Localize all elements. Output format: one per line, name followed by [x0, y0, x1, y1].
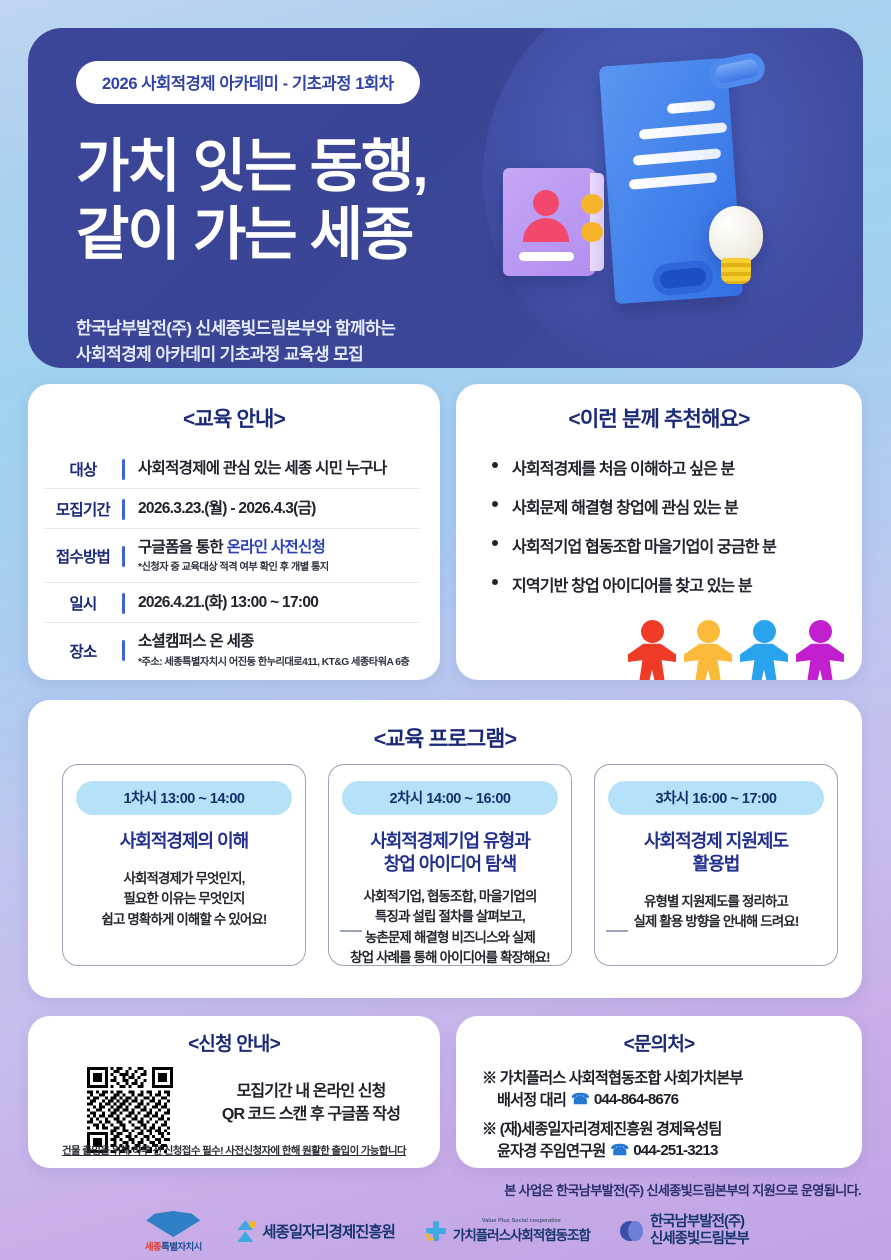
- dot-icon: [249, 1221, 256, 1228]
- logo-kospo: 한국남부발전(주) 신세종빛드림본부: [620, 1214, 749, 1248]
- info-footnote: *신청자 중 교육대상 적격 여부 확인 후 개별 통지: [138, 561, 329, 574]
- list-item: 사회적기업 협동조합 마을기업이 궁금한 분: [490, 533, 862, 557]
- person-figure-red: [628, 620, 676, 680]
- education-info-card: <교육 안내> 대상 사회적경제에 관심 있는 세종 시민 누구나 모집기간 2…: [28, 384, 440, 680]
- person-head-icon: [753, 620, 776, 643]
- session-card-3: 3차시 16:00 ~ 17:00 사회적경제 지원제도 활용법 유형별 지원제…: [594, 764, 838, 966]
- header-illustration: [481, 56, 841, 346]
- arc-icon: [426, 1231, 436, 1241]
- session-description: 사회적기업, 협동조합, 마을기업의 특징과 설립 절차를 살펴보고, 농촌문제…: [342, 887, 558, 969]
- info-label: 장소: [44, 640, 122, 662]
- session-title: 사회적경제의 이해: [76, 830, 292, 853]
- book-line-icon: [519, 252, 574, 261]
- gachi-plus-label: 가치플러스사회적협동조합: [453, 1224, 590, 1244]
- info-value: 사회적경제에 관심 있는 세종 시민 누구나: [138, 459, 387, 479]
- info-label: 모집기간: [44, 498, 122, 520]
- phone-icon: ☎: [571, 1090, 589, 1108]
- person-figure-yellow: [684, 620, 732, 680]
- gachi-plus-text: Value Plus Social cooperative 가치플러스사회적협동…: [453, 1218, 590, 1244]
- divider-bar: [122, 640, 125, 661]
- sejong-city-label: 세종특별자치시: [142, 1239, 204, 1253]
- contact-person: 윤자경 주임연구원 ☎ 044-251-3213: [497, 1139, 862, 1161]
- sejong-city-mark-icon: 세종특별자치시: [142, 1209, 204, 1253]
- info-value-highlight: 온라인 사전신청: [227, 539, 326, 556]
- session-time-badge: 3차시 16:00 ~ 17:00: [608, 781, 824, 815]
- phone-icon: ☎: [610, 1141, 628, 1159]
- info-row-method: 접수방법 구글폼을 통한 온라인 사전신청 *신청자 중 교육대상 적격 여부 …: [44, 529, 420, 583]
- logo-gachi-plus: Value Plus Social cooperative 가치플러스사회적협동…: [425, 1218, 590, 1244]
- session-connector-line: [606, 930, 628, 932]
- info-row-venue: 장소 소셜캠퍼스 온 세종 *주소: 세종특별자치시 어진동 한누리대로411,…: [44, 623, 420, 676]
- bookmark-tab-icon: [581, 194, 603, 214]
- list-item: 사회적경제를 처음 이해하고 싶은 분: [490, 455, 862, 479]
- sejong-job-agency-mark-icon: [234, 1220, 256, 1242]
- book-icon: [503, 168, 597, 276]
- apply-footnote: 건물 출입을 위해 하루 전 신청접수 필수! 사전신청자에 한해 원활한 출입…: [28, 1142, 440, 1157]
- recommendation-card: <이런 분께 추천해요> 사회적경제를 처음 이해하고 싶은 분 사회문제 해결…: [456, 384, 862, 680]
- person-body-icon: [796, 638, 844, 680]
- session-title: 사회적경제 지원제도 활용법: [608, 830, 824, 876]
- info-label: 대상: [44, 458, 122, 480]
- sejong-city-name: 세종: [145, 1242, 161, 1253]
- person-head-icon: [809, 620, 832, 643]
- gachi-plus-mark-icon: [425, 1220, 447, 1242]
- header-banner: 2026 사회적경제 아카데미 - 기초과정 1회차 가치 잇는 동행, 같이 …: [28, 28, 863, 368]
- info-label: 접수방법: [44, 545, 122, 567]
- info-value: 소셜캠퍼스 온 세종 *주소: 세종특별자치시 어진동 한누리대로411, KT…: [138, 632, 409, 668]
- info-table: 대상 사회적경제에 관심 있는 세종 시민 누구나 모집기간 2026.3.23…: [44, 449, 420, 677]
- apply-card-title: <신청 안내>: [28, 1029, 440, 1056]
- logo-sejong-job-agency: 세종일자리경제진흥원: [234, 1220, 395, 1242]
- session-time-badge: 1차시 13:00 ~ 14:00: [76, 781, 292, 815]
- venue-name: 소셜캠퍼스 온 세종: [138, 633, 254, 650]
- bookmark-tab-icon: [581, 222, 603, 242]
- contact-org: ※ 가치플러스 사회적협동조합 사회가치본부: [482, 1066, 862, 1088]
- logo-sejong-city: 세종특별자치시: [142, 1209, 204, 1253]
- kospo-text: 한국남부발전(주) 신세종빛드림본부: [650, 1214, 749, 1248]
- contact-card: <문의처> ※ 가치플러스 사회적협동조합 사회가치본부 배서정 대리 ☎ 04…: [456, 1016, 862, 1168]
- venue-address: *주소: 세종특별자치시 어진동 한누리대로411, KT&G 세종타워A 6층: [138, 656, 409, 669]
- contact-list: ※ 가치플러스 사회적협동조합 사회가치본부 배서정 대리 ☎ 044-864-…: [482, 1066, 862, 1161]
- kospo-mark-icon: [620, 1220, 644, 1242]
- info-value: 2026.4.21.(화) 13:00 ~ 17:00: [138, 593, 318, 613]
- divider-bar: [122, 459, 125, 480]
- kospo-label: 한국남부발전(주): [650, 1214, 749, 1231]
- person-figure-blue: [740, 620, 788, 680]
- contact-person-name: 윤자경 주임연구원: [497, 1139, 605, 1161]
- page-title: 가치 잇는 동행, 같이 가는 세종: [76, 133, 427, 269]
- apply-instructions: 모집기간 내 온라인 신청 QR 코드 스캔 후 구글폼 작성: [196, 1080, 426, 1126]
- info-card-title: <교육 안내>: [28, 403, 440, 433]
- contact-phone[interactable]: 044-864-8676: [594, 1091, 678, 1108]
- divider-bar: [122, 499, 125, 520]
- info-row-datetime: 일시 2026.4.21.(화) 13:00 ~ 17:00: [44, 583, 420, 623]
- session-title: 사회적경제기업 유형과 창업 아이디어 탐색: [342, 830, 558, 876]
- session-description: 유형별 지원제도를 정리하고 실제 활용 방향을 안내해 드려요!: [608, 892, 824, 933]
- program-card: <교육 프로그램> 1차시 13:00 ~ 14:00 사회적경제의 이해 사회…: [28, 700, 862, 998]
- page-subtitle: 한국남부발전(주) 신세종빛드림본부와 함께하는 사회적경제 아카데미 기초과정…: [76, 316, 395, 368]
- lightbulb-icon: [709, 206, 763, 264]
- contact-person-name: 배서정 대리: [497, 1088, 566, 1110]
- person-figure-purple: [796, 620, 844, 680]
- person-head-icon: [641, 620, 664, 643]
- person-body-icon: [628, 638, 676, 680]
- contact-card-title: <문의처>: [456, 1029, 862, 1056]
- course-badge: 2026 사회적경제 아카데미 - 기초과정 1회차: [76, 61, 420, 104]
- list-item: 지역기반 창업 아이디어를 찾고 있는 분: [490, 572, 862, 596]
- info-value: 2026.3.23.(월) - 2026.4.3(금): [138, 499, 316, 519]
- sejong-job-agency-label: 세종일자리경제진흥원: [262, 1220, 395, 1242]
- info-value-plain: 구글폼을 통한: [138, 539, 227, 556]
- divider-bar: [122, 546, 125, 567]
- session-connector-line: [340, 930, 362, 932]
- contact-person: 배서정 대리 ☎ 044-864-8676: [497, 1088, 862, 1110]
- contact-block-1: ※ 가치플러스 사회적협동조합 사회가치본부 배서정 대리 ☎ 044-864-…: [482, 1066, 862, 1110]
- kospo-division-label: 신세종빛드림본부: [650, 1231, 749, 1248]
- info-label: 일시: [44, 592, 122, 614]
- session-card-1: 1차시 13:00 ~ 14:00 사회적경제의 이해 사회적경제가 무엇인지,…: [62, 764, 306, 966]
- info-row-target: 대상 사회적경제에 관심 있는 세종 시민 누구나: [44, 449, 420, 489]
- person-head-icon: [697, 620, 720, 643]
- session-description: 사회적경제가 무엇인지, 필요한 이유는 무엇인지 쉽고 명확하게 이해할 수 …: [76, 869, 292, 930]
- person-head-icon: [533, 190, 559, 216]
- scroll-top-roll-icon: [706, 51, 767, 92]
- people-illustration: [628, 614, 850, 680]
- recommend-list: 사회적경제를 처음 이해하고 싶은 분 사회문제 해결형 창업에 관심 있는 분…: [490, 455, 862, 596]
- info-row-period: 모집기간 2026.3.23.(월) - 2026.4.3(금): [44, 489, 420, 529]
- info-value: 구글폼을 통한 온라인 사전신청 *신청자 중 교육대상 적격 여부 확인 후 …: [138, 538, 329, 574]
- contact-org: ※ (재)세종일자리경제진흥원 경제육성팀: [482, 1117, 862, 1139]
- divider-bar: [122, 593, 125, 614]
- contact-block-2: ※ (재)세종일자리경제진흥원 경제육성팀 윤자경 주임연구원 ☎ 044-25…: [482, 1117, 862, 1161]
- footer-logo-bar: 세종특별자치시 세종일자리경제진흥원 Value Plus Social coo…: [0, 1202, 891, 1260]
- support-note: 본 사업은 한국남부발전(주) 신세종빛드림본부의 지원으로 운영됩니다.: [504, 1180, 861, 1199]
- recommend-card-title: <이런 분께 추천해요>: [456, 403, 862, 433]
- list-item: 사회문제 해결형 창업에 관심 있는 분: [490, 494, 862, 518]
- lightbulb-base-icon: [721, 258, 751, 284]
- person-body-icon: [740, 638, 788, 680]
- program-card-title: <교육 프로그램>: [28, 722, 862, 753]
- arrow-up-icon: [237, 1231, 253, 1242]
- apply-guide-card: <신청 안내>: [28, 1016, 440, 1168]
- kospo-crescent-icon: [628, 1221, 643, 1241]
- session-list: 1차시 13:00 ~ 14:00 사회적경제의 이해 사회적경제가 무엇인지,…: [62, 764, 838, 966]
- sejong-city-suffix: 특별자치시: [161, 1242, 202, 1253]
- poster-root: 2026 사회적경제 아카데미 - 기초과정 1회차 가치 잇는 동행, 같이 …: [0, 0, 891, 1260]
- sejong-fan-icon: [146, 1211, 200, 1237]
- person-body-icon: [523, 218, 569, 242]
- contact-phone[interactable]: 044-251-3213: [633, 1142, 717, 1159]
- session-time-badge: 2차시 14:00 ~ 16:00: [342, 781, 558, 815]
- session-card-2: 2차시 14:00 ~ 16:00 사회적경제기업 유형과 창업 아이디어 탐색…: [328, 764, 572, 966]
- person-body-icon: [684, 638, 732, 680]
